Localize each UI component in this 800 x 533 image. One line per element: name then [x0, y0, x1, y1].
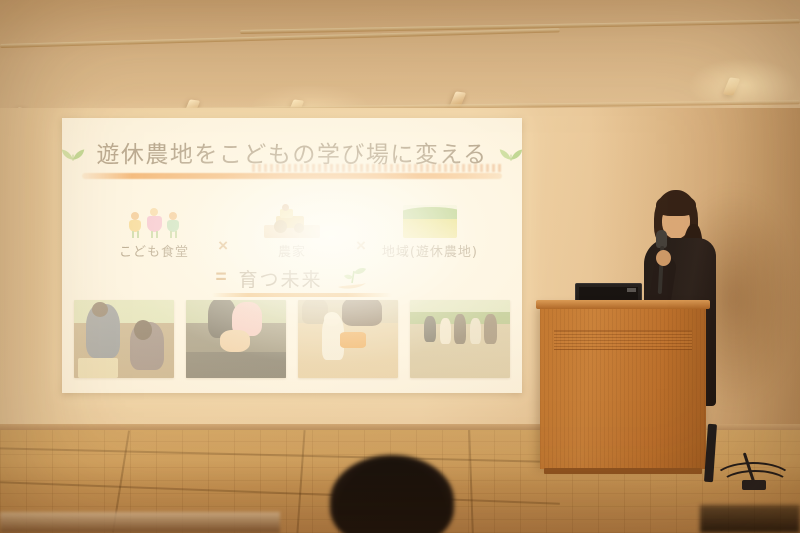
- sprout-in-hand-icon: [335, 265, 369, 291]
- hair-bangs: [656, 194, 696, 216]
- lectern-base: [544, 468, 702, 474]
- child-figure: [167, 212, 180, 238]
- child-figure: [129, 212, 142, 238]
- power-strip: [742, 480, 766, 490]
- projection-screen: 遊休農地をこどもの学び場に変える: [62, 118, 522, 393]
- foreground-surface: [0, 512, 280, 533]
- formula-operator: ×: [356, 236, 366, 256]
- farmland-illustration: [374, 198, 486, 238]
- title-divider: [82, 173, 502, 179]
- formula-term-label: 農家: [236, 241, 348, 260]
- formula-term-label: こども食堂: [98, 241, 210, 260]
- photo-strip: [74, 300, 510, 382]
- presentation-photo: 遊休農地をこどもの学び場に変える: [0, 0, 800, 533]
- formula-result-label: 育つ未来: [239, 265, 323, 292]
- result-underline: [212, 293, 392, 297]
- slide-photo: [186, 300, 286, 378]
- leaf-sprout-icon: [498, 142, 522, 162]
- lectern-top-edge: [536, 300, 710, 309]
- slide-content: 遊休農地をこどもの学び場に変える: [62, 118, 522, 393]
- lectern-groove-band: [554, 330, 692, 350]
- child-figure: [148, 208, 161, 238]
- tractor-illustration: [236, 198, 348, 238]
- concept-formula: こども食堂 × 農家: [62, 188, 522, 260]
- formula-term-chiiki: 地域(遊休農地): [374, 198, 486, 260]
- divider-faded-text: [252, 164, 502, 172]
- formula-result-row: = 育つ未来: [62, 260, 522, 296]
- formula-term-label: 地域(遊休農地): [374, 241, 486, 260]
- children-illustration: [98, 198, 210, 238]
- leaf-sprout-icon: [62, 142, 86, 162]
- slide-photo: [74, 300, 174, 378]
- spot-light-icon: [723, 77, 740, 95]
- formula-term-kodomo-shokudo: こども食堂: [98, 198, 210, 260]
- foreground-shadow: [700, 505, 800, 533]
- slide-photo: [410, 300, 510, 378]
- formula-term-nouka: 農家: [236, 198, 348, 260]
- equals-sign: =: [215, 267, 226, 289]
- formula-operator: ×: [218, 236, 228, 256]
- wooden-lectern: [540, 306, 706, 469]
- slide-photo: [298, 300, 398, 378]
- laptop-badge: [627, 288, 636, 292]
- hand: [656, 250, 671, 266]
